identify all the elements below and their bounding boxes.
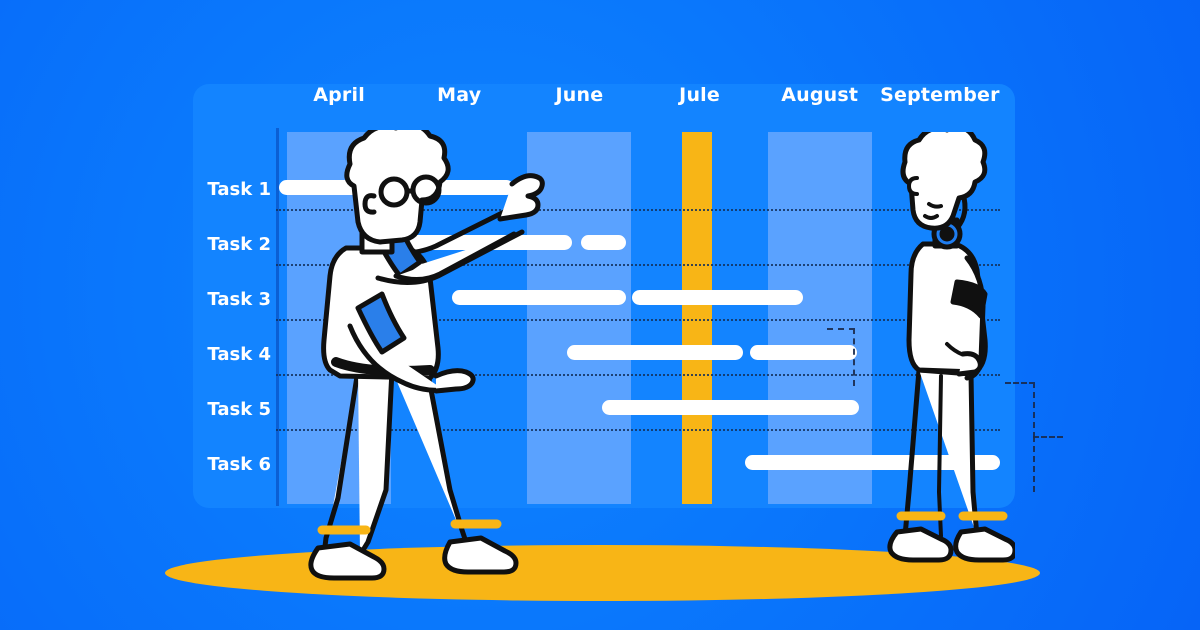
month-label-may: May (399, 84, 519, 106)
month-label-august: August (760, 84, 880, 106)
task-label-3: Task 3 (193, 289, 271, 310)
month-band-august (768, 132, 872, 504)
gantt-bar-task3-seg2[interactable] (632, 290, 804, 305)
month-label-september: September (880, 84, 1000, 106)
task-label-1: Task 1 (193, 179, 271, 200)
task-label-6: Task 6 (193, 454, 271, 475)
gantt-bar-task2-seg2[interactable] (581, 235, 626, 250)
pointing-person-illustration (300, 130, 570, 590)
month-label-april: April (279, 84, 399, 106)
listening-person-illustration (885, 132, 1015, 592)
gantt-bar-task4-seg1[interactable] (567, 345, 743, 360)
task-label-4: Task 4 (193, 344, 271, 365)
month-header-row: AprilMayJuneJuleAugustSeptember (193, 84, 1015, 128)
dependency-connector-task2-task3 (827, 328, 855, 386)
month-label-jule: Jule (640, 84, 760, 106)
dependency-connector-task4-task6 (1033, 436, 1063, 492)
month-label-june: June (519, 84, 639, 106)
gantt-bar-task5-seg1[interactable] (602, 400, 859, 415)
illustration-canvas: AprilMayJuneJuleAugustSeptember Task 1Ta… (0, 0, 1200, 630)
task-label-2: Task 2 (193, 234, 271, 255)
today-marker-column (682, 132, 712, 504)
task-label-5: Task 5 (193, 399, 271, 420)
